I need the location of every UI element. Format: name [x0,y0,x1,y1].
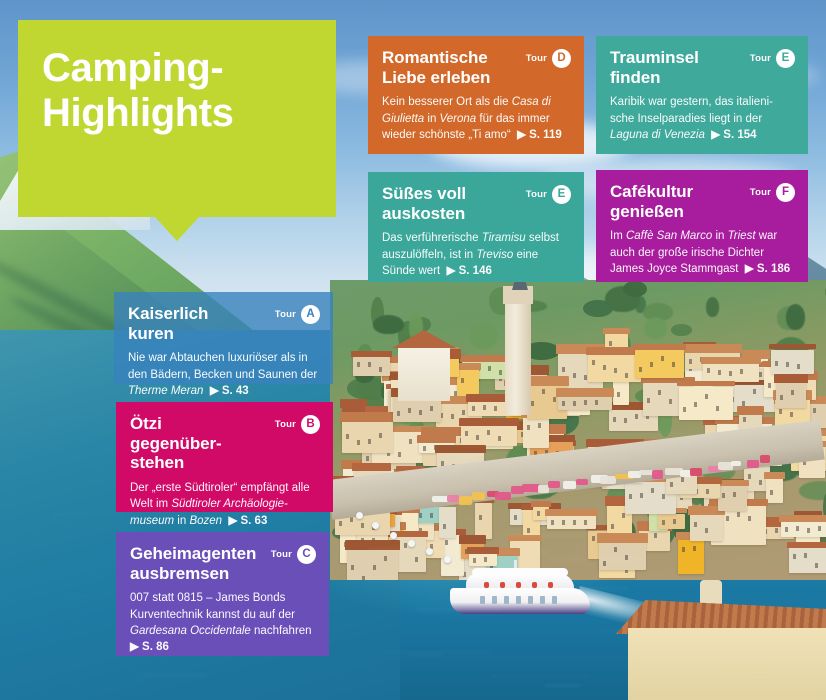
card-body: Nie war Abtauchen luxuriöser als in den … [128,350,319,399]
tour-label: Tour [750,187,771,198]
tour-badge: Tour B [275,415,320,434]
highlight-card-suesses-voll-auskosten[interactable]: Tour E Süßes voll auskosten Das verführe… [368,172,584,282]
tour-badge: Tour A [275,305,320,324]
card-body: Im Caffè San Marco in Triest war auch de… [610,228,794,277]
tour-letter-icon: E [776,49,795,68]
highlight-card-kaiserlich-kuren[interactable]: Tour A Kaiserlich kuren Nie war Abtauche… [114,292,333,384]
card-body: Der „erste Südtiroler“ empfängt alle Wel… [130,480,319,529]
tour-badge: Tour C [271,545,316,564]
highlights-overlay: Camping-Highlights Tour D Romantische Li… [0,0,826,700]
tour-badge: Tour E [526,185,571,204]
tour-label: Tour [526,189,547,200]
tour-letter-icon: A [301,305,320,324]
card-body: 007 statt 0815 – James Bonds Kurventechn… [130,590,315,655]
tour-label: Tour [275,309,296,320]
highlight-card-trauminsel-finden[interactable]: Tour E Trauminsel finden Karibik war ges… [596,36,808,154]
headline-line-1: Camping- [42,46,223,90]
card-body: Karibik war gestern, das italieni-sche I… [610,94,794,143]
highlight-card-romantische-liebe-erleben[interactable]: Tour D Romantische Liebe erleben Kein be… [368,36,584,154]
tour-badge: Tour F [750,183,795,202]
tour-label: Tour [275,419,296,430]
page-root: /*placeholder*/ [0,0,826,700]
tour-label: Tour [271,549,292,560]
headline-box-tail [155,217,199,241]
tour-badge: Tour D [526,49,571,68]
page-title: Camping-Highlights [18,20,336,136]
highlight-card-geheimagenten-ausbremsen[interactable]: Tour C Geheimagenten ausbremsen 007 stat… [116,532,329,656]
highlight-card-oetzi-gegenueberstehen[interactable]: Tour B Ötzi gegenüber-stehen Der „erste … [116,402,333,512]
tour-badge: Tour E [750,49,795,68]
card-body: Kein besserer Ort als die Casa di Giulie… [382,94,570,143]
tour-letter-icon: B [301,415,320,434]
card-body: Das verführerische Tiramisu selbst auszu… [382,230,570,279]
tour-label: Tour [750,53,771,64]
tour-letter-icon: F [776,183,795,202]
tour-letter-icon: E [552,185,571,204]
tour-label: Tour [526,53,547,64]
headline-box: Camping-Highlights [18,20,336,217]
highlight-card-cafekultur-geniessen[interactable]: Tour F Cafékultur genießen Im Caffè San … [596,170,808,282]
tour-letter-icon: D [552,49,571,68]
tour-letter-icon: C [297,545,316,564]
headline-line-2: Highlights [42,91,234,135]
